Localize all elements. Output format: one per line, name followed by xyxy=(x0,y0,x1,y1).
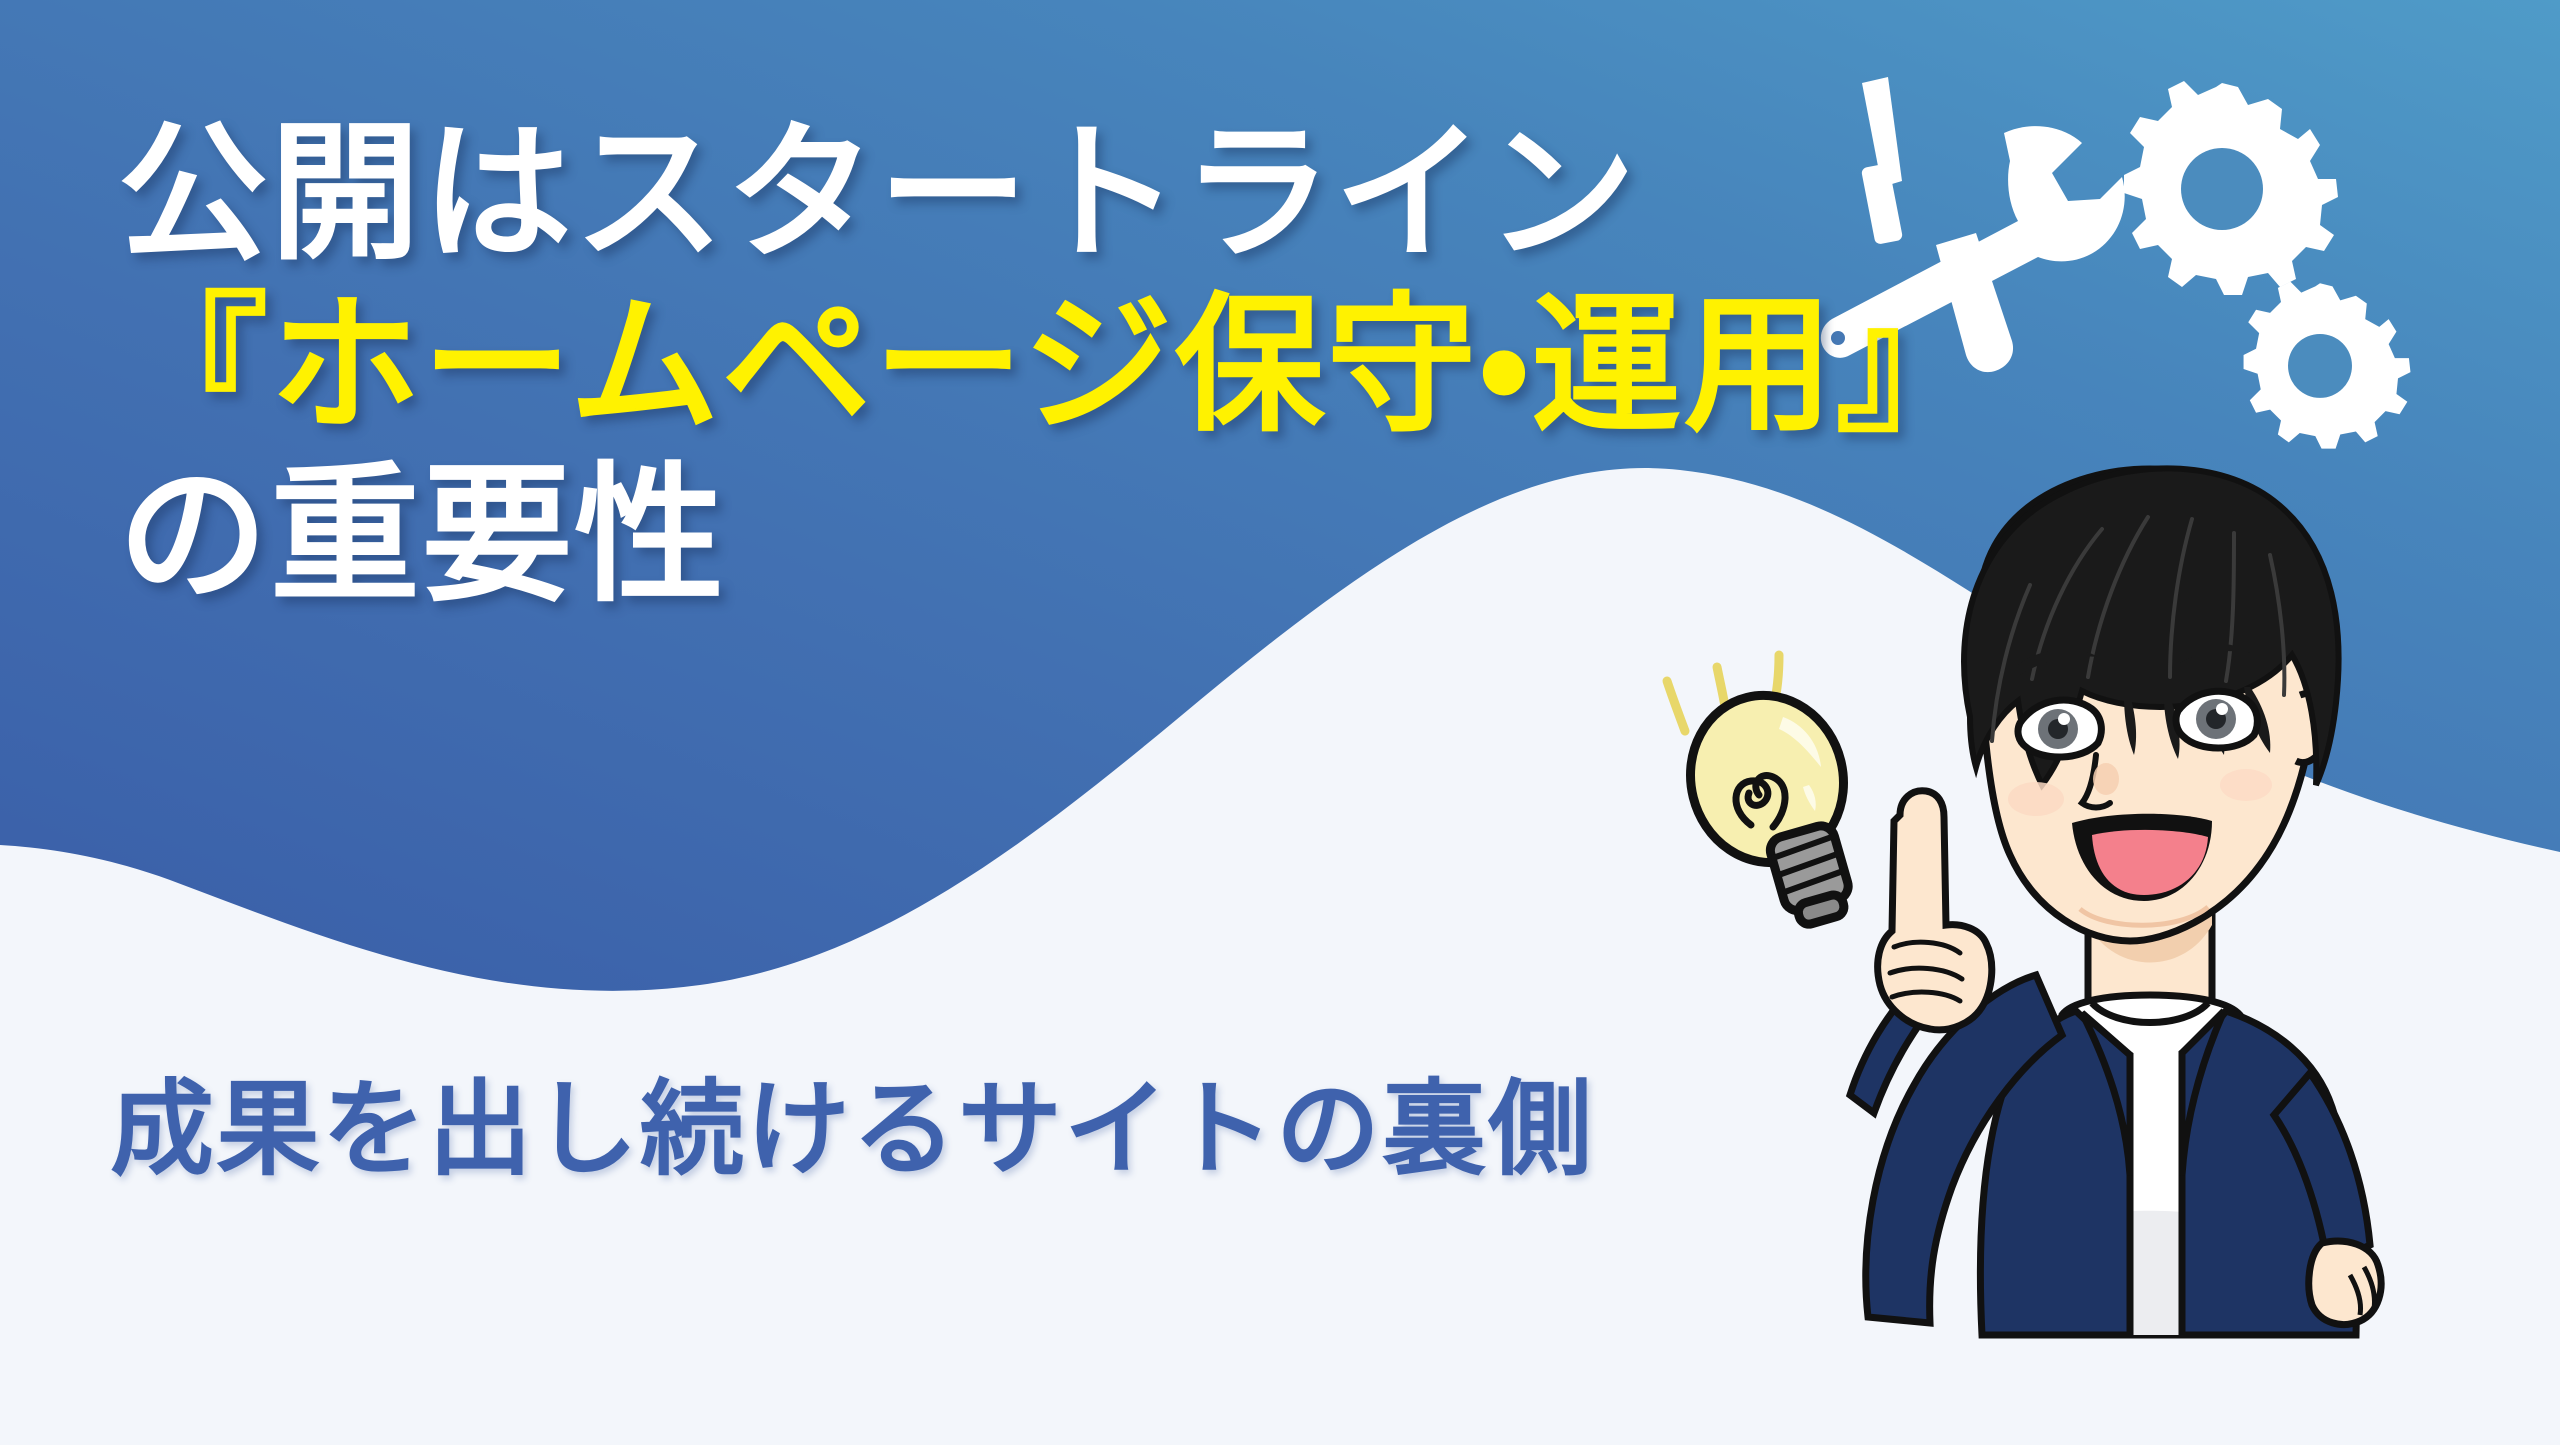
headline-line-2: 『ホームページ保守・運用』 xyxy=(118,290,1758,440)
pointing-hand xyxy=(1878,791,1992,1030)
thumbnail-canvas: 公開はスタートライン 『ホームページ保守・運用』 の重要性 成果を出し続けるサイ… xyxy=(0,0,2560,1445)
gear-icon xyxy=(2124,81,2338,295)
head-group xyxy=(1964,468,2339,941)
headline-line-1: 公開はスタートライン xyxy=(118,118,1758,268)
headline-block: 公開はスタートライン 『ホームページ保守・運用』 の重要性 xyxy=(118,118,1758,610)
character-illustration xyxy=(1830,455,2560,1355)
gear-icon xyxy=(2244,282,2411,449)
headline-line-3: の重要性 xyxy=(118,460,1758,610)
subtitle-text: 成果を出し続けるサイトの裏側 xyxy=(110,1078,1594,1182)
